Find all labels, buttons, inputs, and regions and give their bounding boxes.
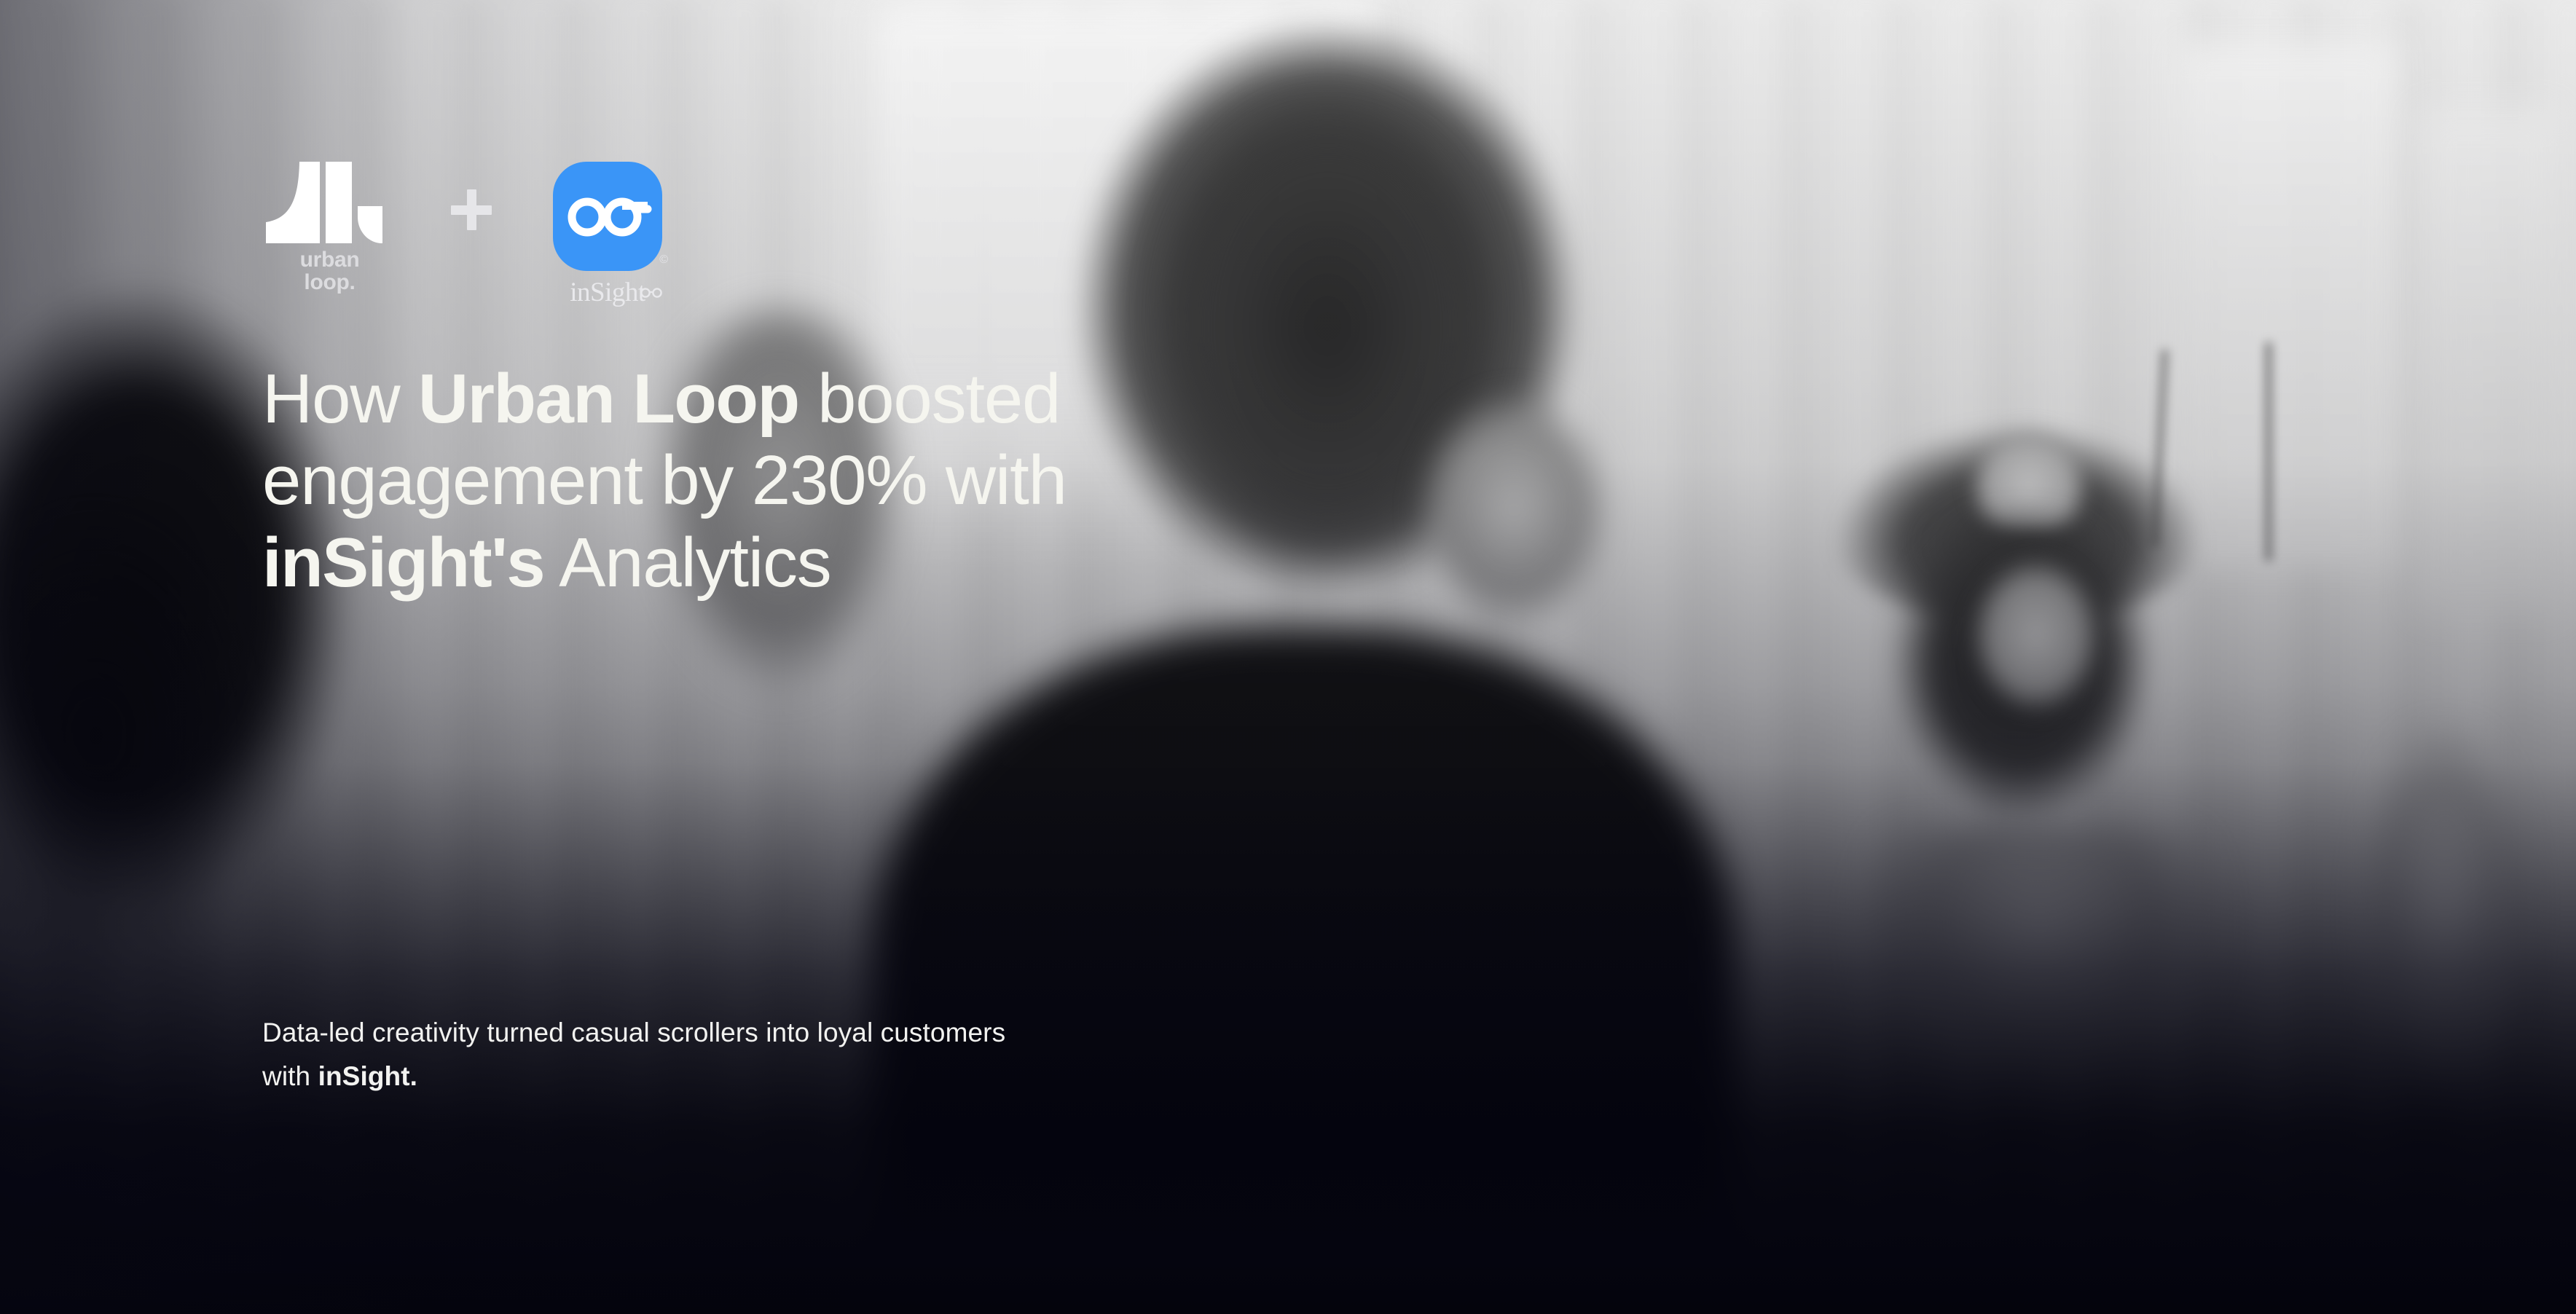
subtitle-line2-pre: with [262,1061,318,1091]
page-subtitle: Data-led creativity turned casual scroll… [262,1011,1238,1098]
urban-loop-wordmark-line1: urban [300,249,360,272]
page-title: How Urban Loop boosted engagement by 230… [262,358,1399,604]
headline-brand-insight: inSight's [262,524,544,602]
glasses-icon [553,162,662,271]
headline-line2: engagement by 230% with [262,441,1067,519]
insight-copyright-mark: © [659,253,668,267]
urban-loop-mark-icon [266,162,393,243]
headline-line1-post: boosted [799,360,1061,438]
headline-brand-urban-loop: Urban Loop [418,360,799,438]
insight-wordmark: inSight [570,277,645,308]
subtitle-brand-insight: inSight. [318,1061,417,1091]
hero-banner: urban loop. [0,0,2576,1314]
urban-loop-wordmark: urban loop. [300,249,360,294]
urban-loop-wordmark-line2: loop. [300,272,360,294]
insight-app-icon: © [553,162,662,271]
hero-content: urban loop. [0,0,2576,1314]
insight-wordmark-glasses-icon [640,287,664,298]
partner-logo-lockup: urban loop. [262,162,669,308]
headline-line1-pre: How [262,360,418,438]
insight-logo: © inSight [546,162,669,308]
plus-icon [449,188,493,232]
insight-wordmark-text: inSight [570,278,645,307]
urban-loop-logo: urban loop. [262,162,397,294]
headline-line3-post: Analytics [544,524,831,602]
subtitle-line1: Data-led creativity turned casual scroll… [262,1018,1005,1047]
